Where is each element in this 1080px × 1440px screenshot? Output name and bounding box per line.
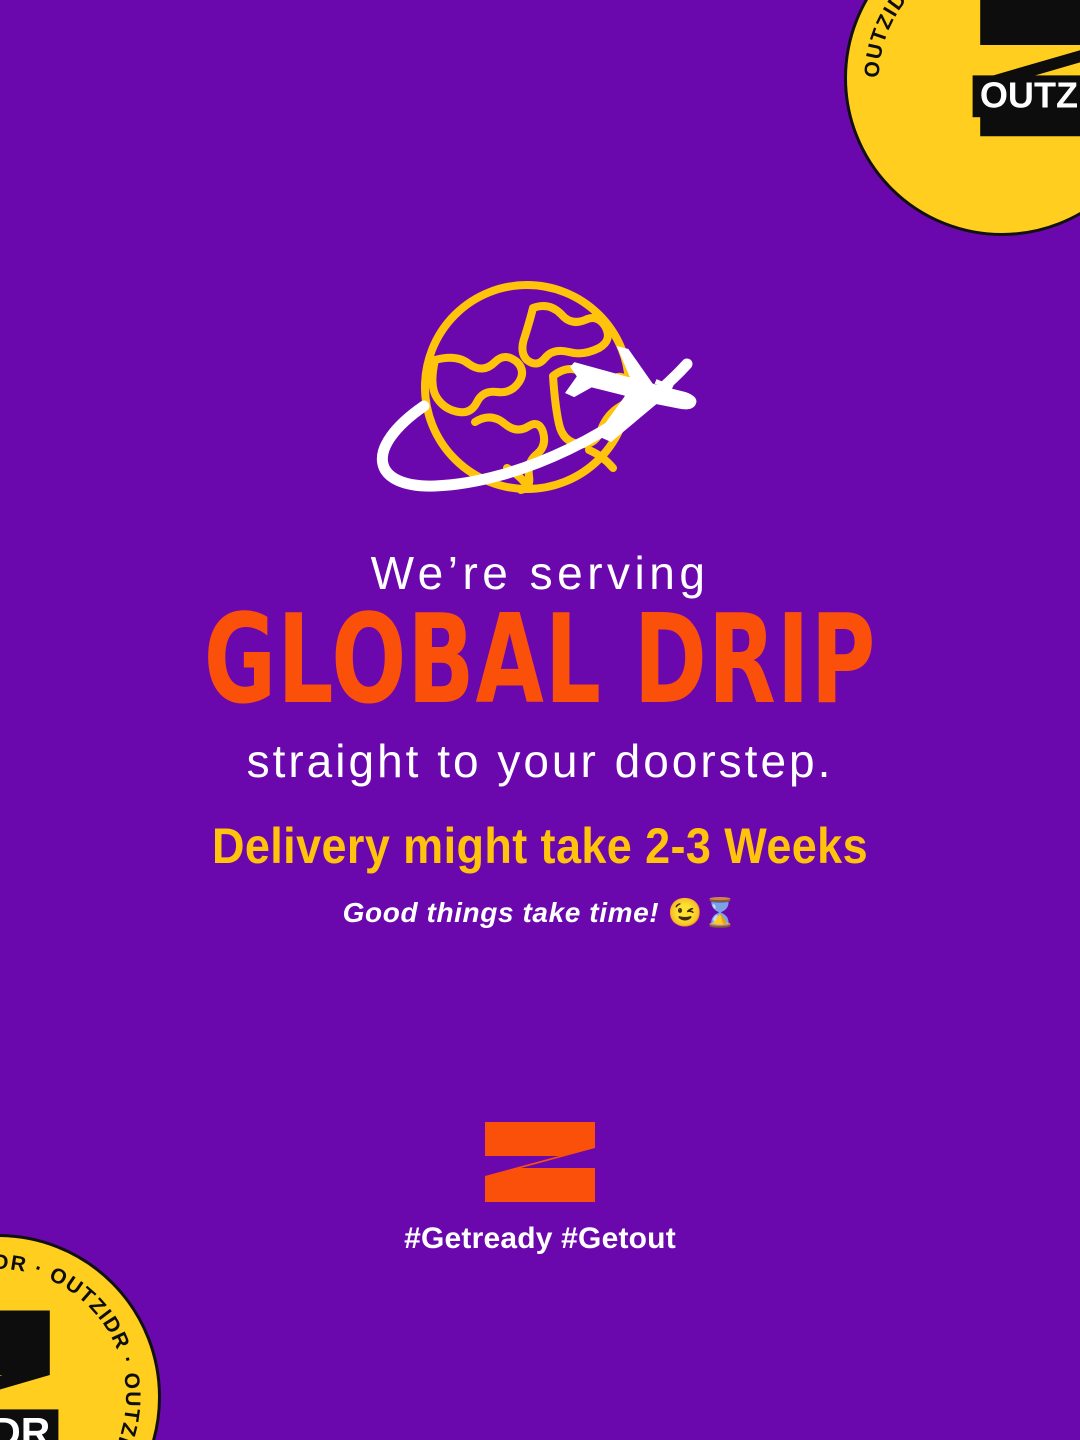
- promo-poster: OUTZIDR · OUTZIDR · OUTZIDR · OUTZIDR · …: [0, 0, 1080, 1440]
- headline-block: We’re serving GLOBAL DRIP straight to yo…: [0, 546, 1080, 789]
- copy-line-doorstep: straight to your doorstep.: [0, 734, 1080, 789]
- badge-top-right: OUTZIDR · OUTZIDR · OUTZIDR · OUTZIDR · …: [844, 0, 1080, 236]
- wink-hourglass-emoji: 😉⌛: [668, 897, 738, 928]
- hero-icon-container: [0, 272, 1080, 516]
- badge-z-wordmark: OUTZIDR: [980, 75, 1080, 116]
- z-logo-icon: OUTZIDR: [965, 0, 1080, 159]
- footer-block: #Getready #Getout: [0, 1118, 1080, 1256]
- delivery-notice: Delivery might take 2-3 Weeks: [0, 817, 1080, 875]
- z-logo-orange-icon: [479, 1118, 601, 1206]
- delivery-subnote: Good things take time! 😉⌛: [0, 896, 1080, 929]
- copy-headline-global-drip: GLOBAL DRIP: [43, 599, 1037, 722]
- delivery-subnote-text: Good things take time!: [343, 897, 660, 928]
- badge-bottom-left: OUTZIDR · OUTZIDR · OUTZIDR · OUTZIDR · …: [0, 1234, 161, 1440]
- z-logo-icon: OUTZIDR: [0, 1289, 67, 1440]
- badge-z-wordmark: OUTZIDR: [0, 1409, 50, 1440]
- globe-with-airplane-icon: [357, 272, 723, 516]
- footer-hashtags: #Getready #Getout: [0, 1222, 1080, 1256]
- delivery-notice-block: Delivery might take 2-3 Weeks Good thing…: [0, 820, 1080, 929]
